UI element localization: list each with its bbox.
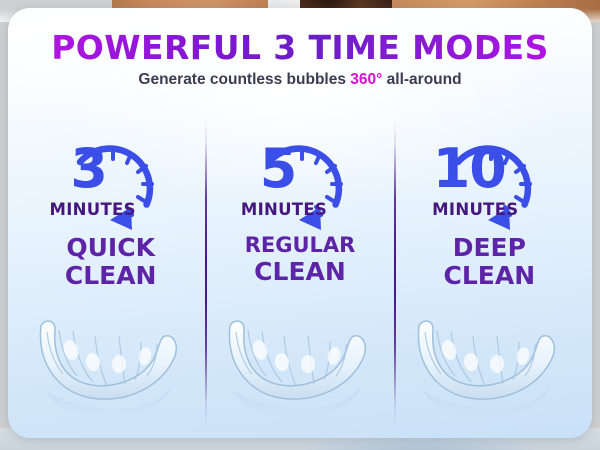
mode-name: REGULAR CLEAN	[205, 234, 394, 286]
subtitle-highlight-360: 360°	[350, 71, 382, 88]
subtitle-text-pre: Generate countless bubbles	[138, 71, 350, 88]
mode-name-line2: CLEAN	[16, 262, 205, 290]
clear-aligner-icon	[212, 306, 388, 430]
mode-unit-label: MINUTES	[432, 200, 518, 219]
product-feature-banner: POWERFUL 3 TIME MODES Generate countless…	[0, 0, 600, 450]
mode-columns: 3 MINUTES QUICK CLEAN	[16, 118, 584, 438]
mode-name-line1: DEEP	[395, 234, 584, 262]
mode-number: 10	[433, 142, 506, 196]
mode-number: 3	[70, 142, 107, 196]
mode-panel-deep-clean: 10 MINUTES DEEP CLEAN	[395, 118, 584, 438]
mode-name: QUICK CLEAN	[16, 234, 205, 291]
clock-arrow-icon	[36, 134, 186, 246]
mode-name-line2: CLEAN	[205, 258, 394, 286]
mode-name-line2: CLEAN	[395, 262, 584, 290]
subtitle-text-post: all-around	[382, 71, 461, 88]
mode-number: 5	[260, 142, 297, 196]
clear-aligner-icon	[401, 306, 577, 430]
mode-name-line1: QUICK	[16, 234, 205, 262]
mode-unit-label: MINUTES	[241, 200, 327, 219]
feature-card: POWERFUL 3 TIME MODES Generate countless…	[8, 8, 592, 438]
page-subtitle: Generate countless bubbles 360° all-arou…	[8, 71, 592, 89]
clock-arrow-icon	[225, 134, 375, 246]
mode-panel-regular-clean: 5 MINUTES REGULAR CLEAN	[205, 118, 394, 438]
mode-name-line1: REGULAR	[205, 234, 394, 258]
mode-unit-label: MINUTES	[50, 200, 136, 219]
column-divider-1	[205, 118, 207, 428]
column-divider-2	[394, 118, 396, 428]
mode-panel-quick-clean: 3 MINUTES QUICK CLEAN	[16, 118, 205, 438]
page-title: POWERFUL 3 TIME MODES	[8, 28, 592, 67]
clear-aligner-icon	[23, 306, 199, 430]
mode-name: DEEP CLEAN	[395, 234, 584, 291]
